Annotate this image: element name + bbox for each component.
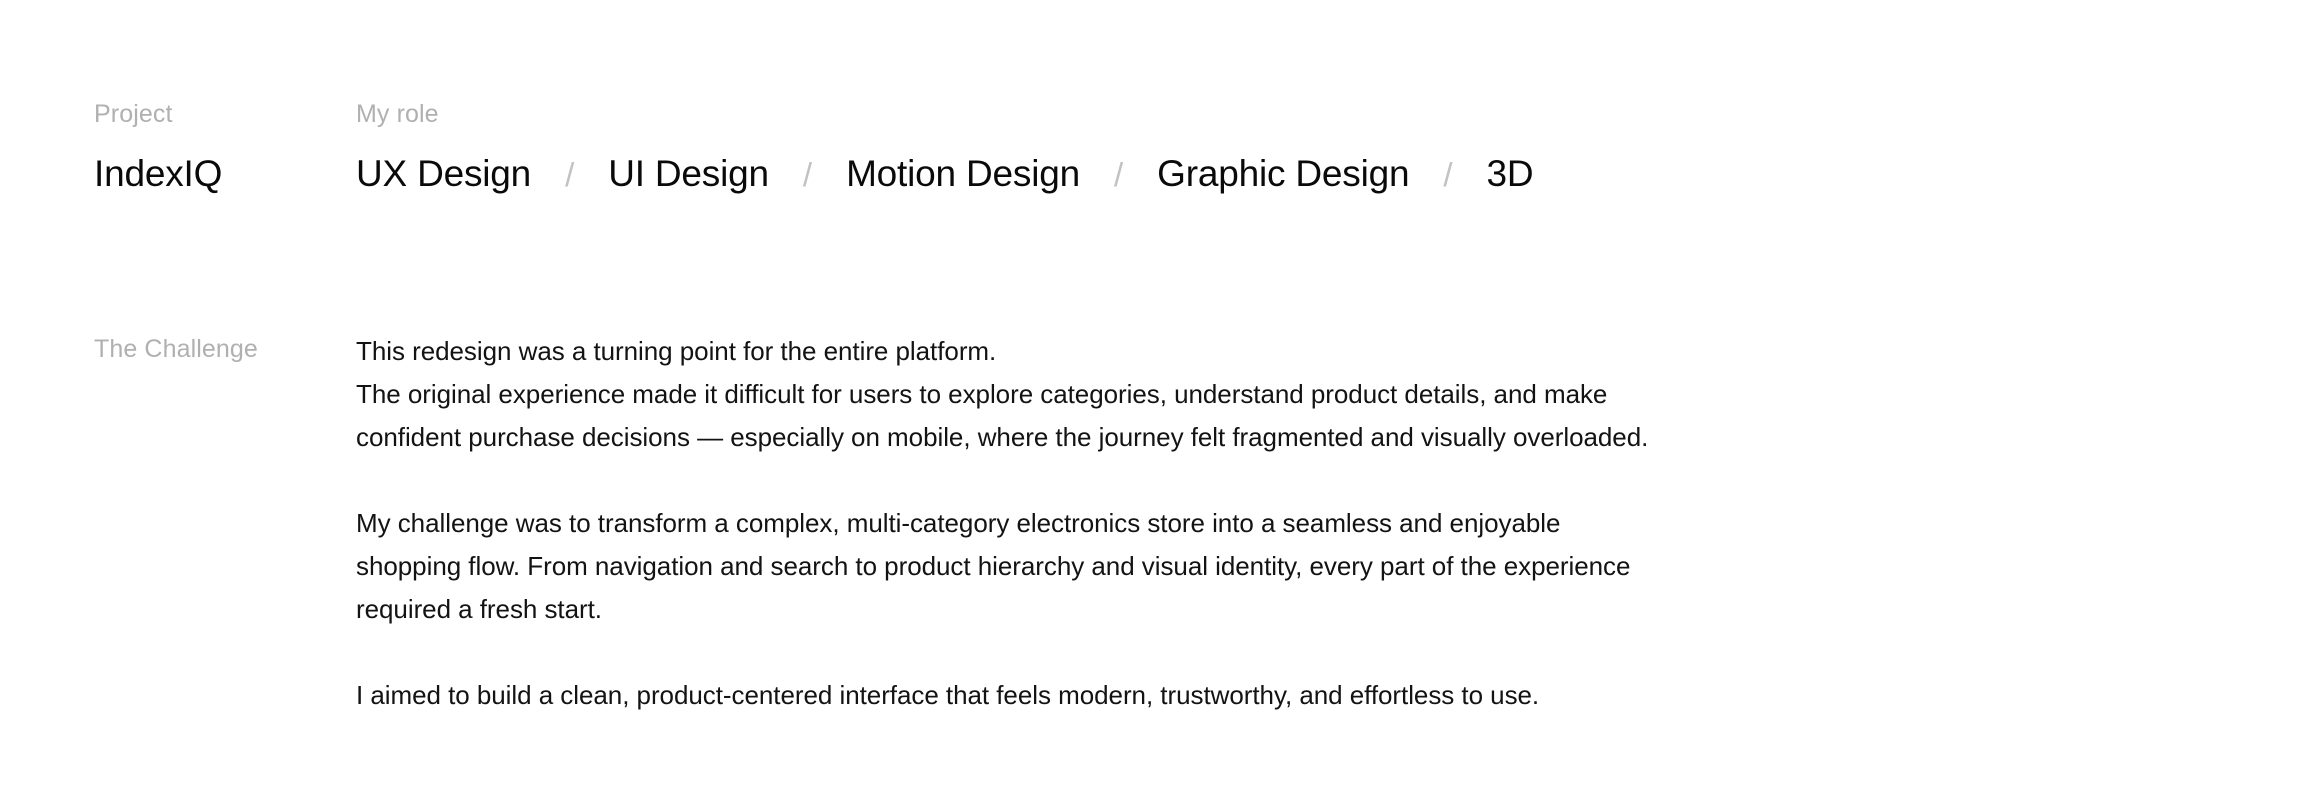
paragraph-line: The original experience made it difficul… — [356, 373, 2036, 416]
paragraph-line: shopping flow. From navigation and searc… — [356, 545, 2036, 588]
challenge-paragraph-2: My challenge was to transform a complex,… — [356, 502, 2036, 631]
project-column: Project IndexIQ — [0, 99, 356, 196]
paragraph-line: This redesign was a turning point for th… — [356, 330, 2036, 373]
role-item-ui-design: UI Design — [608, 153, 769, 196]
role-separator-3: / — [1080, 156, 1157, 194]
role-list: UX Design / UI Design / Motion Design / … — [356, 153, 2300, 196]
challenge-paragraph-3: I aimed to build a clean, product-center… — [356, 674, 2036, 717]
case-study-page: Project IndexIQ My role UX Design / UI D… — [0, 0, 2300, 804]
project-name: IndexIQ — [94, 153, 356, 196]
role-item-motion-design: Motion Design — [846, 153, 1080, 196]
role-column: My role UX Design / UI Design / Motion D… — [356, 99, 2300, 196]
paragraph-line: My challenge was to transform a complex,… — [356, 502, 2036, 545]
role-separator-4: / — [1409, 156, 1486, 194]
challenge-paragraph-1: This redesign was a turning point for th… — [356, 330, 2036, 459]
challenge-label: The Challenge — [94, 330, 356, 364]
role-item-graphic-design: Graphic Design — [1157, 153, 1409, 196]
paragraph-line: confident purchase decisions — especiall… — [356, 416, 2036, 459]
role-label: My role — [356, 99, 2300, 129]
role-separator-2: / — [769, 156, 846, 194]
paragraph-line: required a fresh start. — [356, 588, 2036, 631]
project-meta-row: Project IndexIQ My role UX Design / UI D… — [0, 99, 2300, 196]
challenge-body: This redesign was a turning point for th… — [356, 330, 2036, 717]
role-item-ux-design: UX Design — [356, 153, 531, 196]
role-item-3d: 3D — [1487, 153, 1534, 196]
challenge-label-column: The Challenge — [0, 330, 356, 364]
challenge-row: The Challenge This redesign was a turnin… — [0, 330, 2300, 717]
project-label: Project — [94, 99, 356, 129]
paragraph-line: I aimed to build a clean, product-center… — [356, 674, 2036, 717]
role-separator-1: / — [531, 156, 608, 194]
